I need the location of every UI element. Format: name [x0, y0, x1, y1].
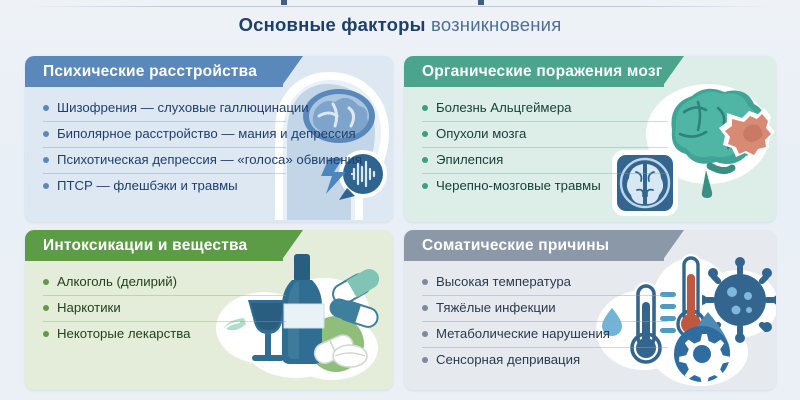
card-intoxication-substances: Интоксикации и вещества	[25, 230, 393, 390]
list-item: Биполярное расстройство — мания и депрес…	[41, 121, 379, 147]
list-item: Высокая температура	[420, 269, 762, 295]
list-item-label: Некоторые лекарства	[57, 326, 190, 341]
list-item-label: Высокая температура	[436, 274, 571, 289]
list-item: Наркотики	[41, 295, 379, 321]
bullet-dot-icon	[43, 331, 49, 337]
list-item-label: Черепно-мозговые травмы	[436, 178, 601, 193]
bullet-dot-icon	[422, 131, 428, 137]
top-text-fragment-left	[281, 0, 287, 5]
bullet-dot-icon	[43, 279, 49, 285]
page-title-strong: Основные факторы	[239, 14, 426, 35]
card-body-mental-disorders: Шизофрения — слуховые галлюцинации Бипол…	[25, 87, 393, 205]
list-item: ПТСР — флешбэки и травмы	[41, 173, 379, 199]
list-item: Эпилепсия	[420, 147, 762, 173]
list-item-label: Шизофрения — слуховые галлюцинации	[57, 100, 309, 115]
card-mental-disorders: Психические расстройства	[25, 56, 393, 222]
bullet-dot-icon	[43, 131, 49, 137]
bullet-dot-icon	[43, 305, 49, 311]
list-item: Тяжёлые инфекции	[420, 295, 762, 321]
bullet-dot-icon	[422, 279, 428, 285]
list-item-label: Метаболические нарушения	[436, 326, 610, 341]
top-divider	[30, 6, 770, 7]
card-title-label: Психические расстройства	[43, 63, 257, 81]
page-title: Основные факторы возникновения	[0, 14, 800, 36]
top-text-fragment-right	[478, 0, 484, 5]
list-item: Сенсорная депривация	[420, 347, 762, 373]
list-item: Болезнь Альцгеймера	[420, 95, 762, 121]
list-item-label: Эпилепсия	[436, 152, 503, 167]
bullet-dot-icon	[43, 183, 49, 189]
card-title-label: Соматические причины	[422, 237, 609, 255]
list-item-label: Опухоли мозга	[436, 126, 526, 141]
infographic-page: Основные факторы возникновения Психическ…	[0, 0, 800, 400]
card-header-intoxication-substances: Интоксикации и вещества	[25, 230, 283, 261]
list-item-label: Алкоголь (делирий)	[57, 274, 177, 289]
bullet-dot-icon	[43, 157, 49, 163]
list-item-label: Сенсорная депривация	[436, 352, 580, 367]
bullet-dot-icon	[422, 331, 428, 337]
list-item: Черепно-мозговые травмы	[420, 173, 762, 199]
list-item-label: Болезнь Альцгеймера	[436, 100, 572, 115]
list-item-label: ПТСР — флешбэки и травмы	[57, 178, 238, 193]
card-header-mental-disorders: Психические расстройства	[25, 56, 283, 87]
card-organic-brain-lesions: Органические поражения мозга	[404, 56, 776, 222]
list-item: Некоторые лекарства	[41, 321, 379, 347]
page-title-rest: возникновения	[426, 14, 562, 35]
bullet-dot-icon	[43, 105, 49, 111]
list-item-label: Тяжёлые инфекции	[436, 300, 556, 315]
card-title-label: Интоксикации и вещества	[43, 237, 247, 255]
list-item-label: Психотическая депрессия — «голоса» обвин…	[57, 152, 362, 167]
list-item-label: Наркотики	[57, 300, 121, 315]
card-body-intoxication-substances: Алкоголь (делирий) Наркотики Некоторые л…	[25, 261, 393, 353]
bullet-dot-icon	[422, 105, 428, 111]
bullet-dot-icon	[422, 357, 428, 363]
list-item-label: Биполярное расстройство — мания и депрес…	[57, 126, 356, 141]
bullet-dot-icon	[422, 157, 428, 163]
list-item: Метаболические нарушения	[420, 321, 762, 347]
card-header-organic-brain-lesions: Органические поражения мозга	[404, 56, 664, 87]
list-item: Психотическая депрессия — «голоса» обвин…	[41, 147, 379, 173]
list-item: Шизофрения — слуховые галлюцинации	[41, 95, 379, 121]
bullet-dot-icon	[422, 183, 428, 189]
card-title-label: Органические поражения мозга	[422, 63, 671, 81]
card-header-somatic-causes: Соматические причины	[404, 230, 664, 261]
card-body-somatic-causes: Высокая температура Тяжёлые инфекции Мет…	[404, 261, 776, 379]
list-item: Алкоголь (делирий)	[41, 269, 379, 295]
list-item: Опухоли мозга	[420, 121, 762, 147]
bullet-dot-icon	[422, 305, 428, 311]
card-somatic-causes: Соматические причины	[404, 230, 776, 390]
card-body-organic-brain-lesions: Болезнь Альцгеймера Опухоли мозга Эпилеп…	[404, 87, 776, 205]
